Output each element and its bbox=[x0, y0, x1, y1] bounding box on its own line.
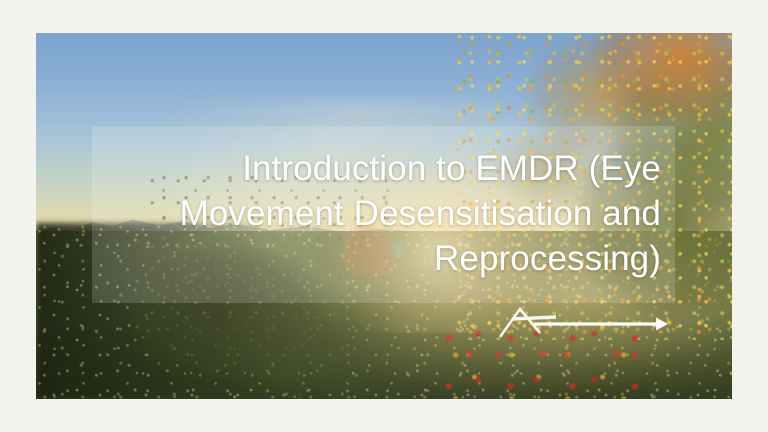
title-overlay-panel: Introduction to EMDR (Eye Movement Desen… bbox=[92, 126, 675, 303]
red-flowers bbox=[440, 318, 649, 399]
slide-title: Introduction to EMDR (Eye Movement Desen… bbox=[106, 147, 661, 281]
slide-title-line-3: Reprocessing) bbox=[106, 237, 661, 282]
slide-title-line-1: Introduction to EMDR (Eye bbox=[106, 147, 661, 192]
slide-canvas: Introduction to EMDR (Eye Movement Desen… bbox=[0, 0, 768, 432]
slide-title-line-2: Movement Desensitisation and bbox=[106, 192, 661, 237]
